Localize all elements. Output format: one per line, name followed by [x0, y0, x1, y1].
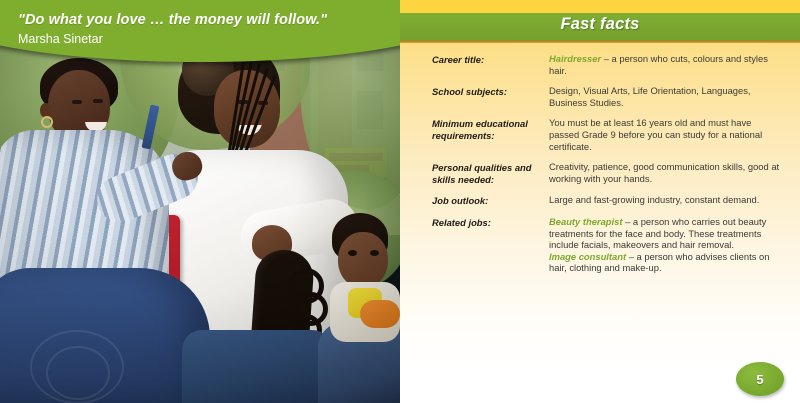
- fact-label: School subjects:: [432, 85, 549, 108]
- quote-text: "Do what you love … the money will follo…: [18, 12, 348, 29]
- page-number: 5: [736, 362, 784, 396]
- fact-label: Minimum educational requirements:: [432, 117, 549, 152]
- fact-label: Job outlook:: [432, 194, 549, 207]
- header-band-yellow: [400, 0, 800, 13]
- fact-label: Related jobs:: [432, 216, 549, 274]
- highlight-term: Beauty therapist: [549, 216, 622, 227]
- hairdresser-eye: [72, 100, 82, 104]
- table-row: Related jobs: Beauty therapist – a perso…: [432, 216, 784, 274]
- table-row: Personal qualities and skills needed: Cr…: [432, 161, 784, 185]
- hairdresser-eye: [93, 99, 103, 103]
- page-number-badge: 5: [736, 362, 784, 396]
- quote-block: "Do what you love … the money will follo…: [18, 12, 348, 47]
- fact-value: Large and fast-growing industry, constan…: [549, 194, 784, 207]
- baby-eye: [370, 250, 379, 256]
- skirt-fold: [46, 346, 110, 400]
- quote-author: Marsha Sinetar: [18, 31, 348, 47]
- baby-eye: [348, 250, 357, 256]
- table-row: Job outlook: Large and fast-growing indu…: [432, 194, 784, 207]
- fact-value: You must be at least 16 years old and mu…: [549, 117, 784, 152]
- fact-value: Creativity, patience, good communication…: [549, 161, 784, 185]
- earring-icon: [41, 116, 53, 128]
- highlight-term: Hairdresser: [549, 53, 601, 64]
- fact-value: Beauty therapist – a person who carries …: [549, 216, 784, 274]
- fact-value: Hairdresser – a person who cuts, colours…: [549, 53, 784, 76]
- fast-facts-title: Fast facts: [400, 15, 800, 34]
- baby-sleeve: [360, 300, 400, 328]
- photo-panel: "Do what you love … the money will follo…: [0, 0, 400, 403]
- table-row: Career title: Hairdresser – a person who…: [432, 53, 784, 76]
- page: "Do what you love … the money will follo…: [0, 0, 800, 403]
- table-row: School subjects: Design, Visual Arts, Li…: [432, 85, 784, 108]
- fact-value: Design, Visual Arts, Life Orientation, L…: [549, 85, 784, 108]
- baby-face: [338, 232, 388, 288]
- fast-facts-table: Career title: Hairdresser – a person who…: [432, 53, 784, 283]
- fact-label: Personal qualities and skills needed:: [432, 161, 549, 185]
- client-jeans: [182, 330, 332, 403]
- highlight-term-2: Image consultant: [549, 251, 626, 262]
- header-rule: [400, 40, 800, 43]
- table-row: Minimum educational requirements: You mu…: [432, 117, 784, 152]
- fast-facts-panel: Fast facts Career title: Hairdresser – a…: [400, 0, 800, 403]
- fact-label: Career title:: [432, 53, 549, 76]
